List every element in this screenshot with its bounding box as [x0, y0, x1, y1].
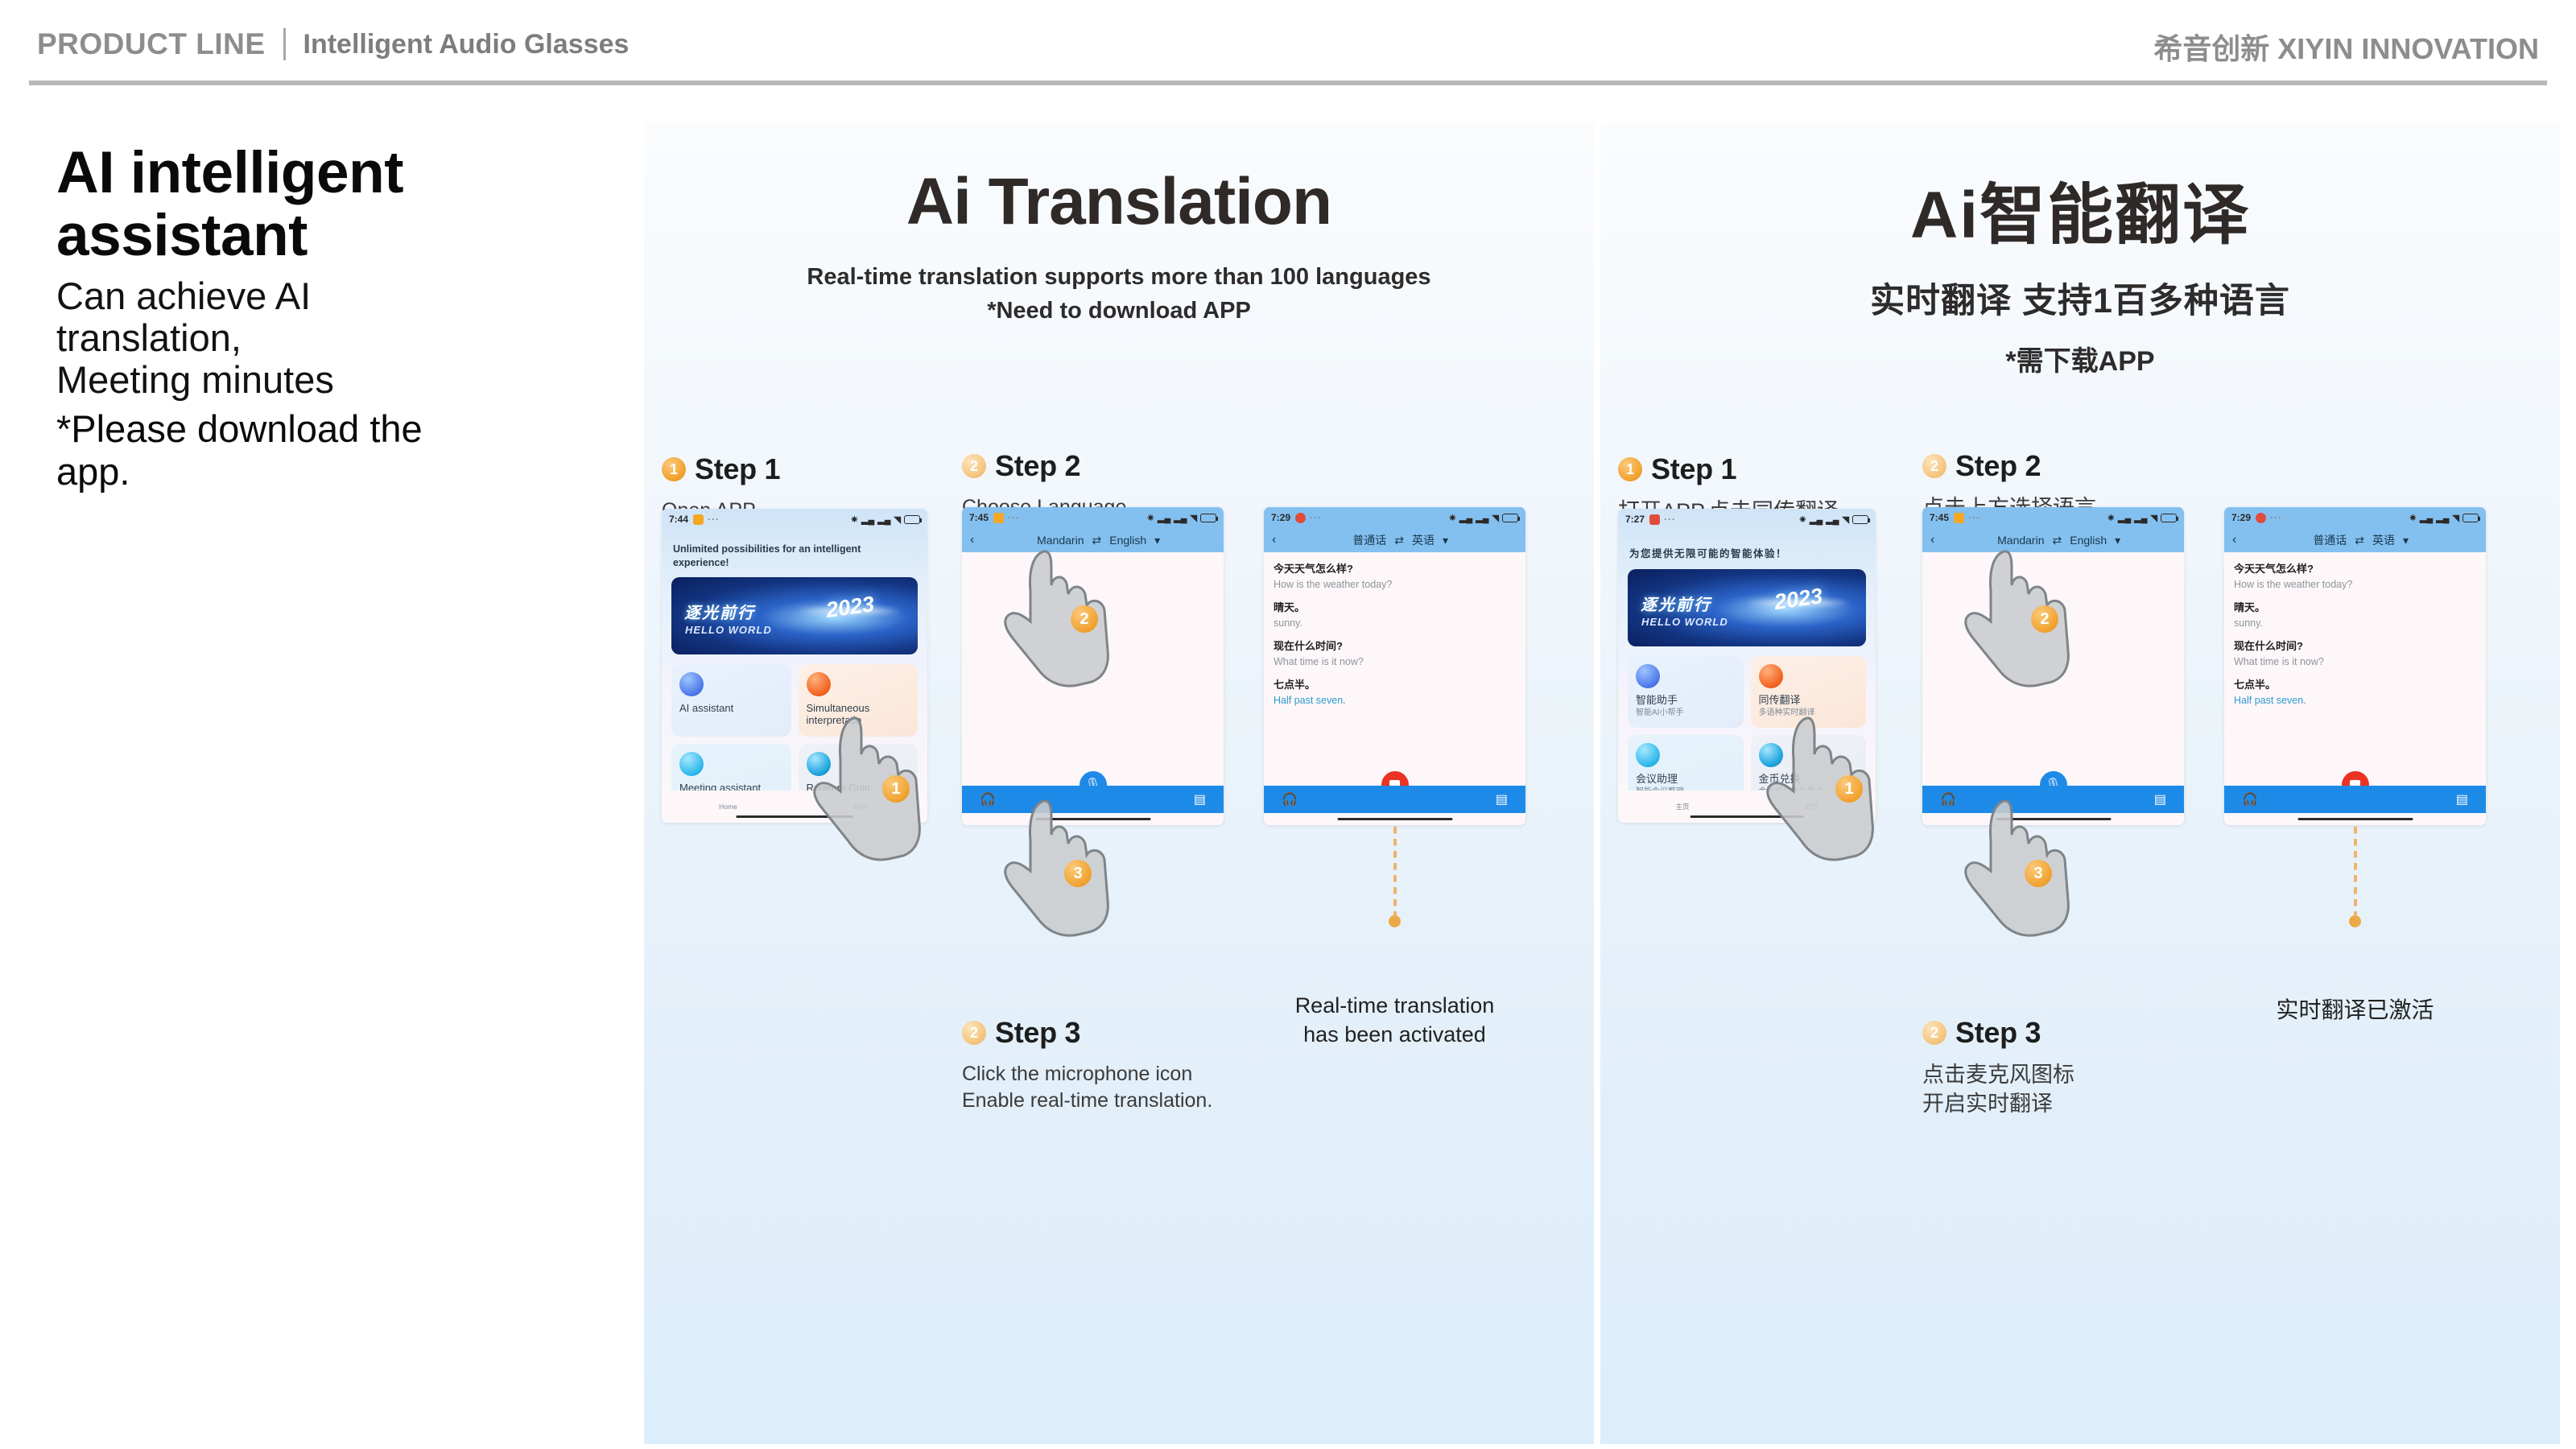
- tab-home-zh[interactable]: 主页: [1618, 802, 1747, 811]
- back-icon[interactable]: ‹: [970, 533, 974, 547]
- header-left-group: PRODUCT LINE Intelligent Audio Glasses: [37, 27, 629, 61]
- bottom-bar-zh-3: 🎧 ▤: [2224, 786, 2486, 813]
- transcript-translation: What time is it now?: [2234, 655, 2476, 668]
- transcript-translation: What time is it now?: [1274, 655, 1516, 668]
- tile-label: AI assistant: [679, 702, 783, 714]
- back-icon[interactable]: ‹: [1272, 533, 1276, 547]
- header-rule: [29, 80, 2547, 85]
- signal-icon-1: ▂▄: [861, 514, 874, 525]
- home-tagline-en: Unlimited possibilities for an intellige…: [662, 530, 927, 577]
- bottom-bar-en-2: 🎧 ▤: [962, 786, 1224, 813]
- panel-en-subtitle-2: *Need to download APP: [644, 298, 1594, 324]
- signal-icon-2: ▂▄: [1174, 513, 1187, 523]
- step-1-en-badge: 1: [662, 457, 686, 481]
- lang-from-label[interactable]: 普通话: [2313, 532, 2347, 548]
- status-app-badge-icon: [993, 513, 1004, 523]
- wifi-icon: ◥: [1843, 514, 1849, 525]
- phone-language-zh[interactable]: 7:45 ··· ✷ ▂▄ ▂▄ ◥ ‹: [1922, 507, 2184, 825]
- lang-from-label[interactable]: 普通话: [1352, 532, 1386, 548]
- transcript-source: 现在什么时间?: [1274, 640, 1516, 654]
- tab-label: 我的: [1804, 803, 1818, 811]
- signal-icon-2: ▂▄: [1476, 513, 1488, 523]
- list-icon[interactable]: ▤: [2456, 791, 2468, 807]
- lang-from-label[interactable]: Mandarin: [1997, 534, 2044, 547]
- transcript-source: 晴天。: [2234, 601, 2476, 615]
- status-right-group: ✷ ▂▄ ▂▄ ◥: [851, 514, 920, 525]
- tab-label: Home: [719, 803, 737, 811]
- person-icon: [1636, 664, 1660, 688]
- wifi-icon: ◥: [1191, 513, 1197, 523]
- tab-home-en[interactable]: Home: [662, 803, 795, 811]
- bottom-bar-zh-2: 🎧 ▤: [1922, 786, 2184, 813]
- result-caption-line2: has been activated: [1303, 1022, 1486, 1046]
- signal-icon-2: ▂▄: [2134, 513, 2147, 523]
- chevron-down-icon[interactable]: ▾: [2115, 534, 2120, 547]
- status-time: 7:45: [1930, 512, 1949, 523]
- tile-label: 智能助手: [1636, 694, 1736, 706]
- step-1-en-head: 1 Step 1: [662, 452, 960, 486]
- home-indicator: [1337, 818, 1452, 820]
- status-right-group: ✷ ▂▄ ▂▄ ◥: [1147, 513, 1216, 523]
- bluetooth-icon: ✷: [2409, 513, 2417, 523]
- status-bar-en-2: 7:45 ··· ✷ ▂▄ ▂▄ ◥: [962, 507, 1224, 528]
- step-1-zh-title: Step 1: [1651, 452, 1736, 486]
- page-title-line1: AI intelligent: [56, 140, 403, 205]
- step-3-en-title: Step 3: [995, 1016, 1080, 1050]
- result-header-zh: 7:29 ··· ✷ ▂▄ ▂▄ ◥ ‹: [2224, 507, 2486, 552]
- step-3-zh-desc: 点击麦克风图标 开启实时翻译: [1922, 1061, 2244, 1118]
- language-navbar-en: ‹ Mandarin ⇄ English ▾: [962, 528, 1224, 552]
- transcript-item: 现在什么时间? What time is it now?: [2234, 640, 2476, 668]
- status-app-badge-icon: [2256, 513, 2266, 523]
- lead-subtitle-line3: Meeting minutes: [56, 358, 334, 401]
- signal-icon-1: ▂▄: [2118, 513, 2131, 523]
- language-selector-result-zh[interactable]: 普通话 ⇄ 英语 ▾: [2313, 532, 2409, 548]
- step-3-zh-head: 2 Step 3: [1922, 1016, 2244, 1050]
- product-line-label: PRODUCT LINE: [37, 27, 266, 61]
- result-navbar-en: ‹ 普通话 ⇄ 英语 ▾: [1264, 528, 1525, 552]
- robot-icon: [1636, 743, 1660, 767]
- back-icon[interactable]: ‹: [1930, 533, 1934, 547]
- status-bar-en-3: 7:29 ··· ✷ ▂▄ ▂▄ ◥: [1264, 507, 1525, 528]
- download-note: *Please download the app.: [56, 407, 423, 493]
- tile-ai-assistant-zh[interactable]: 智能助手 智能AI小帮手: [1628, 656, 1744, 728]
- brand-logo-text: 希音创新 XIYIN INNOVATION: [2153, 26, 2539, 68]
- banner-year: 2023: [824, 592, 876, 623]
- status-right-group: ✷ ▂▄ ▂▄ ◥: [1799, 514, 1868, 525]
- banner-year: 2023: [1773, 583, 1824, 614]
- robot-icon: [679, 752, 704, 776]
- step-3-en-desc: Click the microphone icon Enable real-ti…: [962, 1061, 1284, 1113]
- status-app-badge-icon: [693, 514, 704, 525]
- list-icon[interactable]: ▤: [1194, 791, 1206, 807]
- status-bar-zh-2: 7:45 ··· ✷ ▂▄ ▂▄ ◥: [1922, 507, 2184, 528]
- banner-cn-text: 逐光前行: [684, 600, 755, 623]
- language-selector-result-en[interactable]: 普通话 ⇄ 英语 ▾: [1352, 532, 1448, 548]
- lang-to-label[interactable]: 英语: [1412, 532, 1435, 548]
- signal-icon-2: ▂▄: [1826, 514, 1839, 525]
- battery-icon: [2161, 514, 2177, 522]
- connector-dots-en: [1393, 827, 1397, 915]
- list-icon[interactable]: ▤: [1496, 791, 1508, 807]
- person-icon: [679, 672, 704, 696]
- transcript-source: 今天天气怎么样?: [1274, 563, 1516, 576]
- signal-icon-2: ▂▄: [2436, 513, 2449, 523]
- bottom-bar-en-3: 🎧 ▤: [1264, 786, 1525, 813]
- connector-dots-zh: [2354, 827, 2357, 915]
- tab-bar-en: Home Mine: [662, 791, 927, 823]
- step-3-en-head: 2 Step 3: [962, 1016, 1284, 1050]
- tab-mine-zh[interactable]: 我的: [1747, 802, 1876, 811]
- status-app-badge-icon: [1295, 513, 1306, 523]
- swap-languages-icon[interactable]: ⇄: [2355, 534, 2364, 547]
- bluetooth-icon: ✷: [1147, 513, 1154, 523]
- transcript-list-en: 今天天气怎么样? How is the weather today? 晴天。 s…: [1264, 552, 1525, 708]
- transcript-translation: sunny.: [2234, 617, 2476, 630]
- status-time: 7:29: [2231, 512, 2251, 523]
- phone-result-zh[interactable]: 7:29 ··· ✷ ▂▄ ▂▄ ◥ ‹: [2224, 507, 2486, 825]
- battery-icon: [1852, 515, 1868, 524]
- step-1-zh-badge: 1: [1618, 457, 1642, 481]
- tile-simultaneous-en[interactable]: Simultaneous interpretatio: [799, 664, 919, 737]
- headphones-icon[interactable]: 🎧: [1940, 791, 1956, 807]
- step-3-zh: 2 Step 3 点击麦克风图标 开启实时翻译: [1922, 1016, 2244, 1118]
- result-navbar-zh: ‹ 普通话 ⇄ 英语 ▾: [2224, 528, 2486, 552]
- download-note-line2: app.: [56, 450, 130, 493]
- signal-icon-1: ▂▄: [2420, 513, 2433, 523]
- lead-subtitle-line2: translation,: [56, 316, 242, 359]
- tile-label: Simultaneous interpretatio: [807, 702, 910, 727]
- swap-languages-icon[interactable]: ⇄: [2053, 534, 2062, 547]
- coin-icon: [1759, 743, 1783, 767]
- step-1-zh-head: 1 Step 1: [1618, 452, 1924, 486]
- step-3-en-desc-line1: Click the microphone icon: [962, 1063, 1192, 1085]
- swap-languages-icon[interactable]: ⇄: [1092, 534, 1102, 547]
- home-indicator: [1690, 815, 1804, 818]
- signal-icon-1: ▂▄: [1459, 513, 1472, 523]
- result-caption-en: Real-time translation has been activated: [1264, 992, 1525, 1049]
- chevron-down-icon[interactable]: ▾: [1443, 534, 1448, 547]
- language-header-en: 7:45 ··· ✷ ▂▄ ▂▄ ◥ ‹: [962, 507, 1224, 552]
- home-indicator: [1035, 818, 1150, 820]
- tab-label: Mine: [853, 803, 868, 811]
- tile-sublabel: 智能AI小帮手: [1636, 708, 1736, 718]
- result-screen-zh: 7:29 ··· ✷ ▂▄ ▂▄ ◥ ‹: [2224, 507, 2486, 825]
- transcript-source: 现在什么时间?: [2234, 640, 2476, 654]
- transcript-item: 七点半。 Half past seven.: [1274, 679, 1516, 707]
- chevron-down-icon[interactable]: ▾: [2403, 534, 2409, 547]
- panel-chinese: Ai智能翻译 实时翻译 支持1百多种语言 *需下载APP 1 Step 1 打开…: [1600, 122, 2560, 1444]
- lang-to-label[interactable]: English: [2070, 534, 2107, 547]
- signal-icon-1: ▂▄: [1158, 513, 1170, 523]
- tile-label: 会议助理: [1636, 773, 1736, 785]
- step-3-en: 2 Step 3 Click the microphone icon Enabl…: [962, 1016, 1284, 1113]
- transcript-source: 七点半。: [1274, 679, 1516, 692]
- header-subtitle: Intelligent Audio Glasses: [303, 29, 630, 60]
- step-3-zh-title: Step 3: [1955, 1016, 2041, 1050]
- step-2-zh-title: Step 2: [1955, 449, 2041, 483]
- home-indicator: [1996, 818, 2111, 820]
- transcript-item: 今天天气怎么样? How is the weather today?: [1274, 563, 1516, 591]
- step-3-zh-desc-line2: 开启实时翻译: [1922, 1092, 2053, 1116]
- home-screen-zh: 7:27 ··· ✷ ▂▄ ▂▄ ◥ 为您提供无限可能的智能体验！ 逐光前行: [1618, 509, 1876, 823]
- tab-label: 主页: [1675, 803, 1689, 811]
- download-note-line1: *Please download the: [56, 407, 423, 450]
- connector-dot-end-zh: [2349, 915, 2361, 927]
- transcript-item: 现在什么时间? What time is it now?: [1274, 640, 1516, 668]
- bluetooth-icon: ✷: [851, 514, 858, 525]
- transcript-translation: sunny.: [1274, 617, 1516, 630]
- promo-banner-zh[interactable]: 逐光前行 2023 HELLO WORLD: [1628, 569, 1866, 646]
- language-navbar-zh: ‹ Mandarin ⇄ English ▾: [1922, 528, 2184, 552]
- back-icon[interactable]: ‹: [2232, 533, 2236, 547]
- status-right-group: ✷ ▂▄ ▂▄ ◥: [2107, 513, 2177, 523]
- page-title-line2: assistant: [56, 203, 308, 268]
- phone-home-zh[interactable]: 7:27 ··· ✷ ▂▄ ▂▄ ◥ 为您提供无限可能的智能体验！ 逐光前行: [1618, 509, 1876, 823]
- step-1-en-title: Step 1: [695, 452, 780, 486]
- battery-icon: [1200, 514, 1216, 522]
- banner-hello-world: HELLO WORLD: [685, 624, 772, 636]
- transcript-source: 今天天气怎么样?: [2234, 563, 2476, 576]
- panel-zh-subtitle-2: *需下载APP: [1600, 339, 2560, 378]
- hand-step-number-3-zh: 3: [2025, 860, 2052, 887]
- result-caption-line1: 实时翻译已激活: [2276, 997, 2434, 1022]
- step-3-en-badge: 2: [962, 1021, 986, 1045]
- wifi-icon: ◥: [894, 514, 901, 525]
- result-caption-zh: 实时翻译已激活: [2224, 996, 2486, 1026]
- home-tagline-zh: 为您提供无限可能的智能体验！: [1618, 530, 1876, 569]
- home-tiles-zh: 智能助手 智能AI小帮手 同传翻译 多语种实时翻译 会议助理 智能会议整理: [1618, 646, 1876, 807]
- wifi-icon: ◥: [1492, 513, 1499, 523]
- step-3-zh-badge: 2: [1922, 1021, 1946, 1045]
- swap-languages-icon[interactable]: ⇄: [1394, 534, 1404, 547]
- chat-bubbles-icon: [1759, 664, 1783, 688]
- tab-bar-zh: 主页 我的: [1618, 791, 1876, 823]
- coin-icon: [807, 752, 831, 776]
- status-more-icon: ···: [1664, 514, 1676, 525]
- status-bar-en-1: 7:44 ··· ✷ ▂▄ ▂▄ ◥: [662, 509, 927, 530]
- transcript-translation: Half past seven.: [1274, 694, 1516, 707]
- language-selector-zh[interactable]: Mandarin ⇄ English ▾: [1997, 534, 2120, 547]
- phone-language-en[interactable]: 7:45 ··· ✷ ▂▄ ▂▄ ◥ ‹: [962, 507, 1224, 825]
- status-more-icon: ···: [1008, 512, 1020, 523]
- language-screen-zh: 7:45 ··· ✷ ▂▄ ▂▄ ◥ ‹: [1922, 507, 2184, 825]
- step-2-en-title: Step 2: [995, 449, 1080, 483]
- bluetooth-icon: ✷: [2107, 513, 2115, 523]
- panel-en-subtitle-1: Real-time translation supports more than…: [644, 264, 1594, 291]
- step-3-en-desc-line2: Enable real-time translation.: [962, 1089, 1212, 1112]
- banner-cn-text: 逐光前行: [1641, 592, 1711, 615]
- panel-zh-title: Ai智能翻译: [1600, 161, 2560, 257]
- status-more-icon: ···: [2270, 512, 2282, 523]
- status-bar-zh-1: 7:27 ··· ✷ ▂▄ ▂▄ ◥: [1618, 509, 1876, 530]
- lang-to-label[interactable]: 英语: [2372, 532, 2395, 548]
- tile-ai-assistant-en[interactable]: AI assistant: [671, 664, 791, 737]
- lang-from-label[interactable]: Mandarin: [1037, 534, 1084, 547]
- headphones-icon[interactable]: 🎧: [2242, 791, 2258, 807]
- result-screen-en: 7:29 ··· ✷ ▂▄ ▂▄ ◥ ‹: [1264, 507, 1525, 825]
- transcript-item: 晴天。 sunny.: [1274, 601, 1516, 630]
- status-right-group: ✷ ▂▄ ▂▄ ◥: [1449, 513, 1518, 523]
- result-header-en: 7:29 ··· ✷ ▂▄ ▂▄ ◥ ‹: [1264, 507, 1525, 552]
- result-caption-line1: Real-time translation: [1295, 993, 1495, 1018]
- banner-hello-world: HELLO WORLD: [1641, 616, 1728, 628]
- promo-banner-en[interactable]: 逐光前行 2023 HELLO WORLD: [671, 577, 918, 654]
- status-time: 7:27: [1625, 514, 1645, 525]
- status-right-group: ✷ ▂▄ ▂▄ ◥: [2409, 513, 2479, 523]
- battery-icon: [2462, 514, 2479, 522]
- list-icon[interactable]: ▤: [2154, 791, 2166, 807]
- status-time: 7:45: [969, 512, 989, 523]
- tile-label: 同传翻译: [1759, 694, 1859, 706]
- phone-result-en[interactable]: 7:29 ··· ✷ ▂▄ ▂▄ ◥ ‹: [1264, 507, 1525, 825]
- bluetooth-icon: ✷: [1799, 514, 1806, 525]
- wifi-icon: ◥: [2151, 513, 2157, 523]
- transcript-item: 七点半。 Half past seven.: [2234, 679, 2476, 707]
- home-screen-en: 7:44 ··· ✷ ▂▄ ▂▄ ◥ Unlimited possibiliti…: [662, 509, 927, 823]
- tile-simultaneous-zh[interactable]: 同传翻译 多语种实时翻译: [1751, 656, 1867, 728]
- phone-home-en[interactable]: 7:44 ··· ✷ ▂▄ ▂▄ ◥ Unlimited possibiliti…: [662, 509, 927, 823]
- transcript-item: 晴天。 sunny.: [2234, 601, 2476, 630]
- status-more-icon: ···: [1310, 512, 1322, 523]
- transcript-source: 七点半。: [2234, 679, 2476, 692]
- chat-bubbles-icon: [807, 672, 831, 696]
- status-app-badge-icon: [1954, 513, 1964, 523]
- status-time: 7:44: [669, 514, 688, 525]
- header-divider: [283, 28, 286, 60]
- transcript-translation: How is the weather today?: [2234, 578, 2476, 591]
- lead-copy-block: AI intelligent assistant Can achieve AI …: [56, 142, 620, 400]
- panel-zh-subtitle-1: 实时翻译 支持1百多种语言: [1600, 273, 2560, 323]
- connector-dot-end-en: [1389, 915, 1401, 927]
- signal-icon-1: ▂▄: [1810, 514, 1823, 525]
- bluetooth-icon: ✷: [1449, 513, 1456, 523]
- status-more-icon: ···: [708, 514, 720, 525]
- transcript-translation: Half past seven.: [2234, 694, 2476, 707]
- step-2-en-head: 2 Step 2: [962, 449, 1244, 483]
- headphones-icon[interactable]: 🎧: [1282, 791, 1298, 807]
- transcript-translation: How is the weather today?: [1274, 578, 1516, 591]
- lang-to-label[interactable]: English: [1109, 534, 1146, 547]
- chevron-down-icon[interactable]: ▾: [1154, 534, 1160, 547]
- status-more-icon: ···: [1968, 512, 1980, 523]
- home-indicator: [736, 815, 852, 818]
- panel-english: Ai Translation Real-time translation sup…: [644, 122, 1594, 1444]
- language-screen-en: 7:45 ··· ✷ ▂▄ ▂▄ ◥ ‹: [962, 507, 1224, 825]
- page-header: PRODUCT LINE Intelligent Audio Glasses 希…: [0, 0, 2576, 77]
- home-indicator: [2297, 818, 2413, 820]
- lead-subtitle-line1: Can achieve AI: [56, 275, 311, 317]
- battery-icon: [904, 515, 920, 524]
- step-2-zh-head: 2 Step 2: [1922, 449, 2204, 483]
- step-2-en-badge: 2: [962, 454, 986, 478]
- home-tiles-en: AI assistant Simultaneous interpretatio …: [662, 654, 927, 813]
- language-selector-en[interactable]: Mandarin ⇄ English ▾: [1037, 534, 1160, 547]
- hand-step-number-3-en: 3: [1064, 860, 1092, 887]
- tile-label: 金币兑换: [1759, 773, 1859, 785]
- status-time: 7:29: [1271, 512, 1290, 523]
- headphones-icon[interactable]: 🎧: [980, 791, 996, 807]
- battery-icon: [1502, 514, 1518, 522]
- signal-icon-2: ▂▄: [877, 514, 890, 525]
- step-3-zh-desc-line1: 点击麦克风图标: [1922, 1063, 2074, 1087]
- page-title: AI intelligent assistant: [56, 142, 620, 267]
- transcript-item: 今天天气怎么样? How is the weather today?: [2234, 563, 2476, 591]
- language-header-zh: 7:45 ··· ✷ ▂▄ ▂▄ ◥ ‹: [1922, 507, 2184, 552]
- step-2-zh-badge: 2: [1922, 454, 1946, 478]
- lead-subtitle: Can achieve AI translation, Meeting minu…: [56, 275, 620, 400]
- transcript-source: 晴天。: [1274, 601, 1516, 615]
- wifi-icon: ◥: [2453, 513, 2459, 523]
- status-app-badge-icon: [1649, 514, 1660, 525]
- tile-sublabel: 多语种实时翻译: [1759, 708, 1859, 718]
- tab-mine-en[interactable]: Mine: [795, 803, 927, 811]
- status-bar-zh-3: 7:29 ··· ✷ ▂▄ ▂▄ ◥: [2224, 507, 2486, 528]
- transcript-list-zh: 今天天气怎么样? How is the weather today? 晴天。 s…: [2224, 552, 2486, 708]
- panel-en-title: Ai Translation: [644, 164, 1594, 240]
